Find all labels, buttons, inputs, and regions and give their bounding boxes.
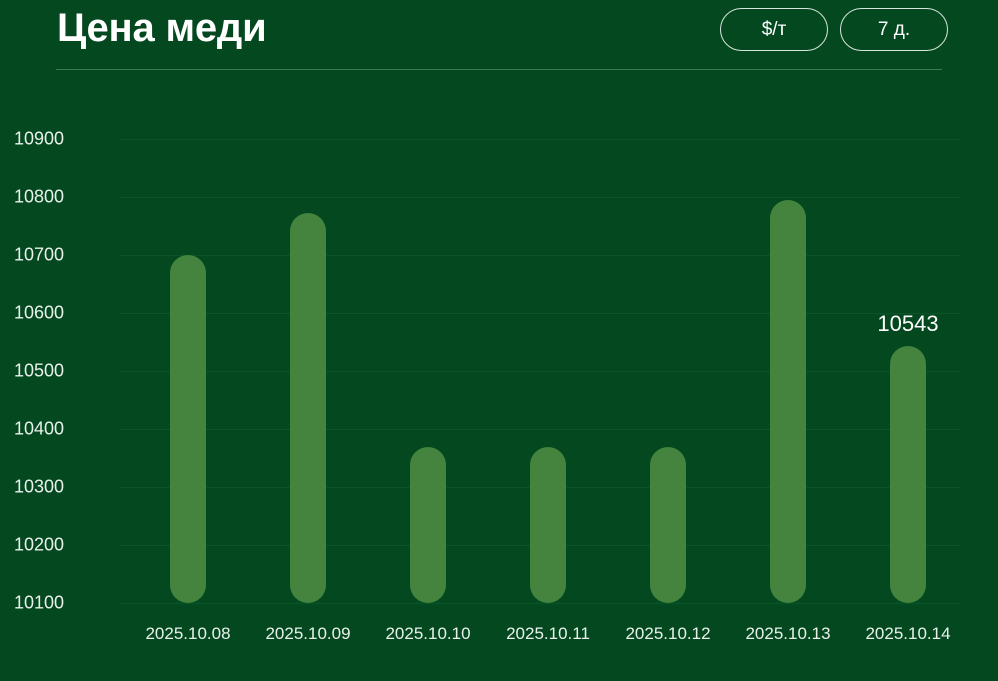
gridline	[120, 313, 960, 314]
bar-value-label: 10543	[877, 311, 938, 337]
y-axis-tick-label: 10600	[0, 303, 64, 324]
bar[interactable]	[170, 255, 206, 603]
y-axis-tick-label: 10700	[0, 245, 64, 266]
gridline	[120, 255, 960, 256]
y-axis-tick-label: 10400	[0, 419, 64, 440]
x-axis-tick-label: 2025.10.10	[385, 624, 470, 644]
plot-area: 1090010800107001060010500104001030010200…	[120, 139, 960, 603]
widget-header: Цена меди $/т 7 д.	[0, 0, 998, 70]
gridline	[120, 371, 960, 372]
y-axis-tick-label: 10500	[0, 361, 64, 382]
copper-price-widget: Цена меди $/т 7 д. 109001080010700106001…	[0, 0, 998, 681]
gridline	[120, 429, 960, 430]
bar[interactable]	[650, 447, 686, 603]
x-axis-tick-label: 2025.10.14	[865, 624, 950, 644]
x-axis-tick-label: 2025.10.12	[625, 624, 710, 644]
y-axis-tick-label: 10800	[0, 187, 64, 208]
gridline	[120, 197, 960, 198]
page-title: Цена меди	[57, 4, 267, 52]
x-axis-tick-label: 2025.10.13	[745, 624, 830, 644]
bar[interactable]	[290, 213, 326, 603]
gridline	[120, 139, 960, 140]
y-axis-tick-label: 10100	[0, 593, 64, 614]
bar[interactable]	[410, 447, 446, 603]
y-axis-tick-label: 10900	[0, 129, 64, 150]
x-axis-tick-label: 2025.10.11	[506, 624, 590, 644]
bar[interactable]	[770, 200, 806, 603]
bar[interactable]	[890, 346, 926, 603]
bar-chart: 1090010800107001060010500104001030010200…	[0, 70, 998, 681]
y-axis-tick-label: 10300	[0, 477, 64, 498]
gridline	[120, 603, 960, 604]
unit-toggle-button[interactable]: $/т	[720, 8, 828, 51]
x-axis-tick-label: 2025.10.08	[145, 624, 230, 644]
range-toggle-button[interactable]: 7 д.	[840, 8, 948, 51]
y-axis-tick-label: 10200	[0, 535, 64, 556]
x-axis-tick-label: 2025.10.09	[265, 624, 350, 644]
bar[interactable]	[530, 447, 566, 603]
header-button-group: $/т 7 д.	[720, 8, 948, 51]
